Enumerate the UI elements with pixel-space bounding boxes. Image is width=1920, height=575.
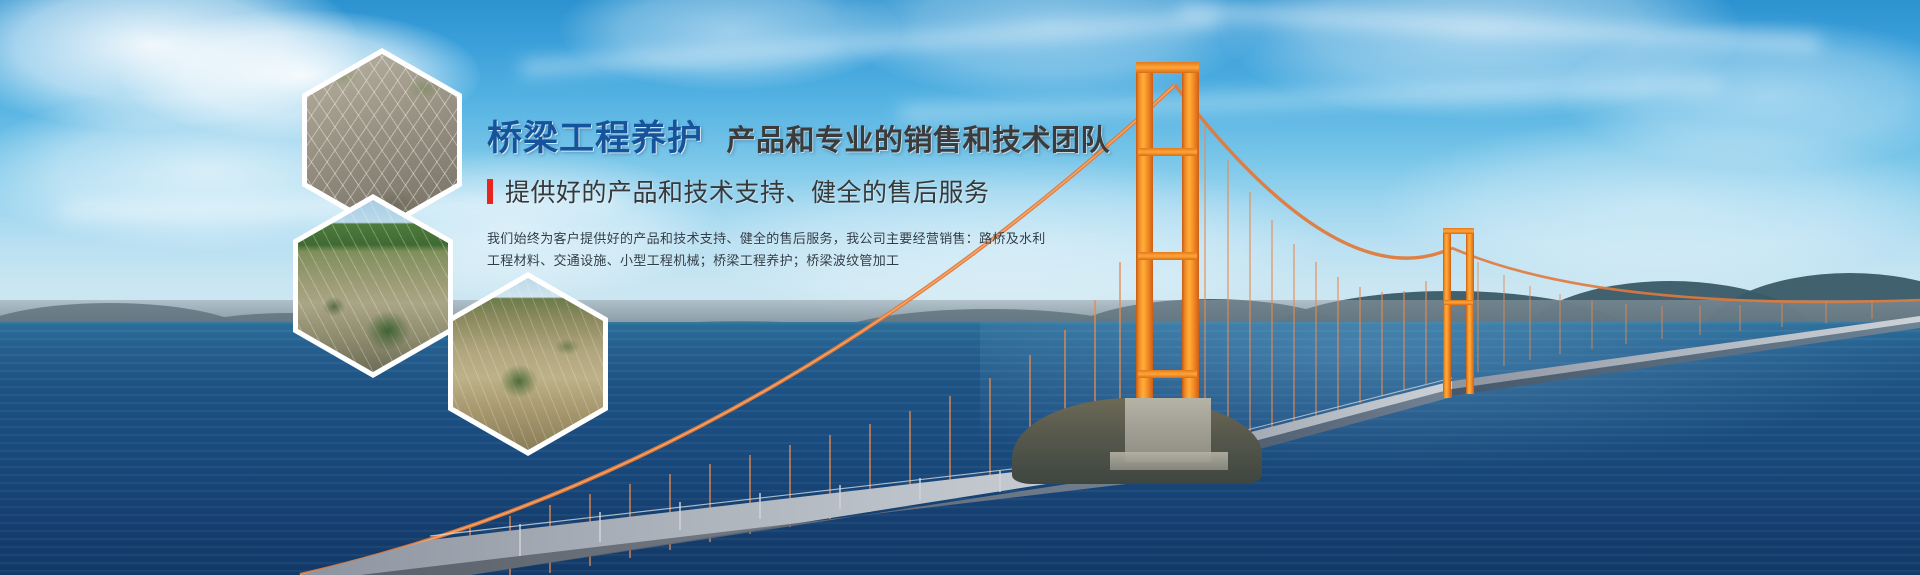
body-copy-line-1: 我们始终为客户提供好的产品和技术支持、健全的售后服务，我公司主要经营销售：路桥及… [487, 228, 1187, 250]
tagline-row: 提供好的产品和技术支持、健全的售后服务 [487, 173, 1187, 209]
body-copy-line-2: 工程材料、交通设施、小型工程机械；桥梁工程养护；桥梁波纹管加工 [487, 250, 1187, 272]
accent-bar [487, 179, 493, 204]
body-copy: 我们始终为客户提供好的产品和技术支持、健全的售后服务，我公司主要经营销售：路桥及… [487, 228, 1187, 272]
hero-banner: 桥梁工程养护 产品和专业的销售和技术团队 提供好的产品和技术支持、健全的售后服务… [0, 0, 1920, 575]
tagline-text: 提供好的产品和技术支持、健全的售后服务 [505, 173, 990, 209]
headline-sub: 产品和专业的销售和技术团队 [726, 127, 1110, 156]
headline-row: 桥梁工程养护 产品和专业的销售和技术团队 [487, 121, 1187, 156]
banner-copy: 桥梁工程养护 产品和专业的销售和技术团队 提供好的产品和技术支持、健全的售后服务… [487, 121, 1187, 272]
sea-background [0, 322, 1920, 575]
headline-main: 桥梁工程养护 [487, 121, 703, 156]
green-hillside-photo [298, 200, 448, 372]
dry-slope-tree-photo [453, 278, 603, 450]
